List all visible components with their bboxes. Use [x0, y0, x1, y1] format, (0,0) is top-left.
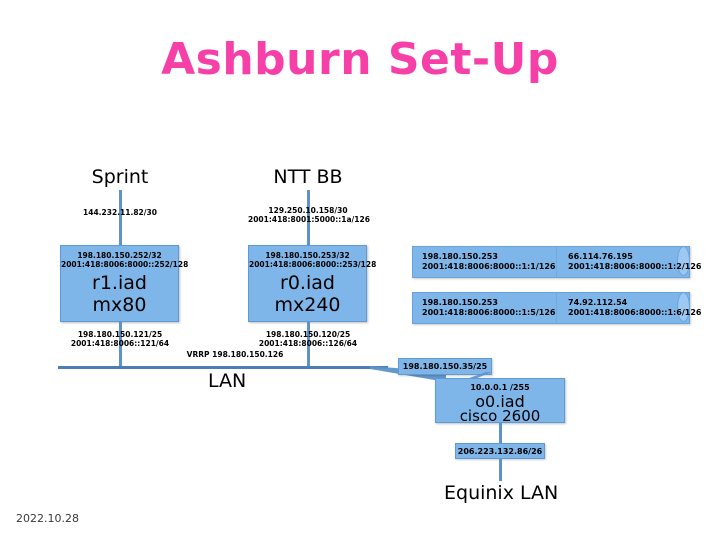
- tunnel-1-far-v6: 2001:418:8006:8000::1:2/126: [568, 262, 701, 273]
- iface-label-sprint-v4: 144.232.11.82/30: [60, 208, 180, 218]
- tunnel-1-near-v4: 198.180.150.253: [422, 252, 498, 263]
- tunnel-cylinder-1[interactable]: 198.180.150.253 2001:418:8006:8000::1:1/…: [412, 246, 690, 278]
- page-title: Ashburn Set-Up: [0, 34, 720, 85]
- slide-canvas: Ashburn Set-Up Sprint NTT BB 144.232.11.…: [0, 0, 720, 540]
- link-sprint-to-r1: [119, 190, 122, 245]
- iface-label-r1-lan-v6: 2001:418:8006::121/64: [60, 339, 180, 349]
- lan-label: LAN: [208, 370, 246, 392]
- tunnel-2-far-v4: 74.92.112.54: [568, 298, 627, 309]
- date-stamp: 2022.10.28: [16, 512, 79, 525]
- link-switch-to-equinix-upper: [499, 423, 502, 445]
- device-box-r1-iad[interactable]: 198.180.150.252/32 2001:418:8006:8000::2…: [60, 245, 179, 322]
- tunnel-divider-2: [556, 293, 557, 323]
- device-name-r0: r0.iad: [249, 272, 366, 294]
- device-loopback-v6-r0: 2001:418:8006:8000::253/128: [249, 260, 366, 270]
- device-name-r1: r1.iad: [61, 272, 178, 294]
- device-model-r1: mx80: [61, 294, 178, 316]
- tunnel-1-far-v4: 66.114.76.195: [568, 252, 633, 263]
- callout-equinix-address[interactable]: 206.223.132.86/26: [455, 443, 545, 459]
- link-switch-to-equinix-lower: [499, 459, 502, 481]
- tunnel-divider-1: [556, 247, 557, 277]
- iface-label-ntt-v6: 2001:418:8001:5000::1a/126: [248, 215, 368, 225]
- lan-bus-line: [58, 366, 388, 369]
- tunnel-2-near-v6: 2001:418:8006:8000::1:5/126: [422, 308, 555, 319]
- device-box-r0-iad[interactable]: 198.180.150.253/32 2001:418:8006:8000::2…: [248, 245, 367, 322]
- tunnel-2-near-v4: 198.180.150.253: [422, 298, 498, 309]
- tunnel-cylinder-2[interactable]: 198.180.150.253 2001:418:8006:8000::1:5/…: [412, 292, 690, 324]
- tunnel-1-near-v6: 2001:418:8006:8000::1:1/126: [422, 262, 555, 273]
- provider-label-sprint: Sprint: [58, 166, 182, 188]
- lan-vrrp-label: VRRP 198.180.150.126: [165, 350, 305, 360]
- device-model-r0: mx240: [249, 294, 366, 316]
- equinix-lan-label: Equinix LAN: [444, 482, 558, 504]
- iface-label-r0-lan-v6: 2001:418:8006::126/64: [248, 339, 368, 349]
- device-loopback-v6-r1: 2001:418:8006:8000::252/128: [61, 260, 178, 270]
- provider-label-ntt: NTT BB: [228, 166, 388, 188]
- device-box-o0-iad[interactable]: 10.0.0.1 /255 o0.iad cisco 2600: [435, 378, 565, 423]
- tunnel-2-far-v6: 2001:418:8006:8000::1:6/126: [568, 308, 701, 319]
